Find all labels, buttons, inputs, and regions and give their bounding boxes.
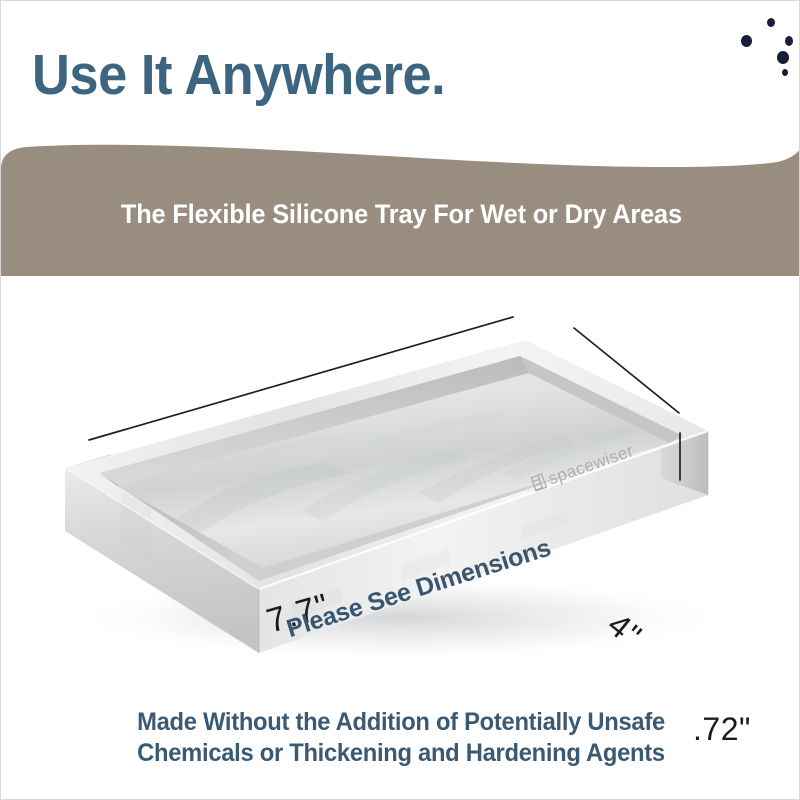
product-photo-area: spacewiser 7.7" 4" .72"	[1, 273, 800, 703]
silicone-tray-illustration: spacewiser	[1, 273, 800, 703]
dot-icon	[767, 18, 775, 27]
dot-icon	[785, 36, 793, 46]
product-infographic: Use It Anywhere. The Flexible Silicone T…	[0, 0, 800, 800]
dot-cluster-decoration	[719, 9, 799, 89]
page-title: Use It Anywhere.	[32, 43, 445, 107]
banner-shape	[1, 131, 800, 276]
dot-icon	[741, 35, 752, 47]
banner-strip: The Flexible Silicone Tray For Wet or Dr…	[1, 131, 800, 276]
dot-icon	[777, 51, 789, 64]
footer-line-2: Chemicals or Thickening and Hardening Ag…	[21, 738, 781, 769]
footer-claim: Made Without the Addition of Potentially…	[1, 707, 800, 769]
footer-line-1: Made Without the Addition of Potentially…	[21, 707, 781, 738]
dot-icon	[782, 69, 788, 76]
